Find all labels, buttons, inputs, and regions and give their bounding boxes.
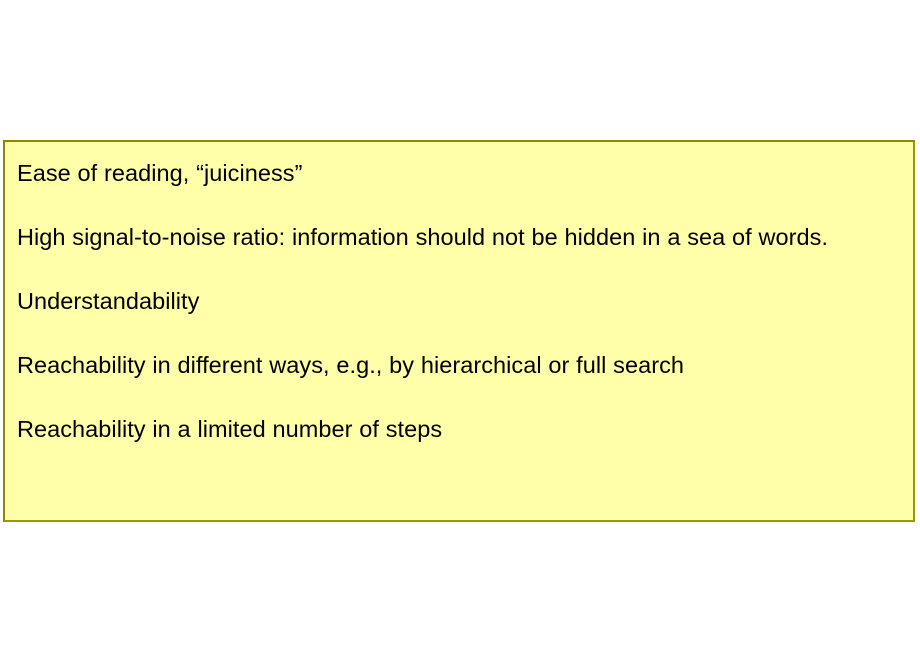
bullet-list: Ease of reading, “juiciness” High signal… xyxy=(17,158,903,445)
slide-canvas: Ease of reading, “juiciness” High signal… xyxy=(0,0,920,660)
bullet-item-signal-to-noise: High signal-to-noise ratio: information … xyxy=(17,222,903,253)
bullet-item-reachability-different-ways: Reachability in different ways, e.g., by… xyxy=(17,350,903,381)
bullet-item-ease-of-reading: Ease of reading, “juiciness” xyxy=(17,158,903,189)
bullet-item-understandability: Understandability xyxy=(17,286,903,317)
bullet-item-reachability-limited-steps: Reachability in a limited number of step… xyxy=(17,414,903,445)
content-box: Ease of reading, “juiciness” High signal… xyxy=(3,140,915,522)
